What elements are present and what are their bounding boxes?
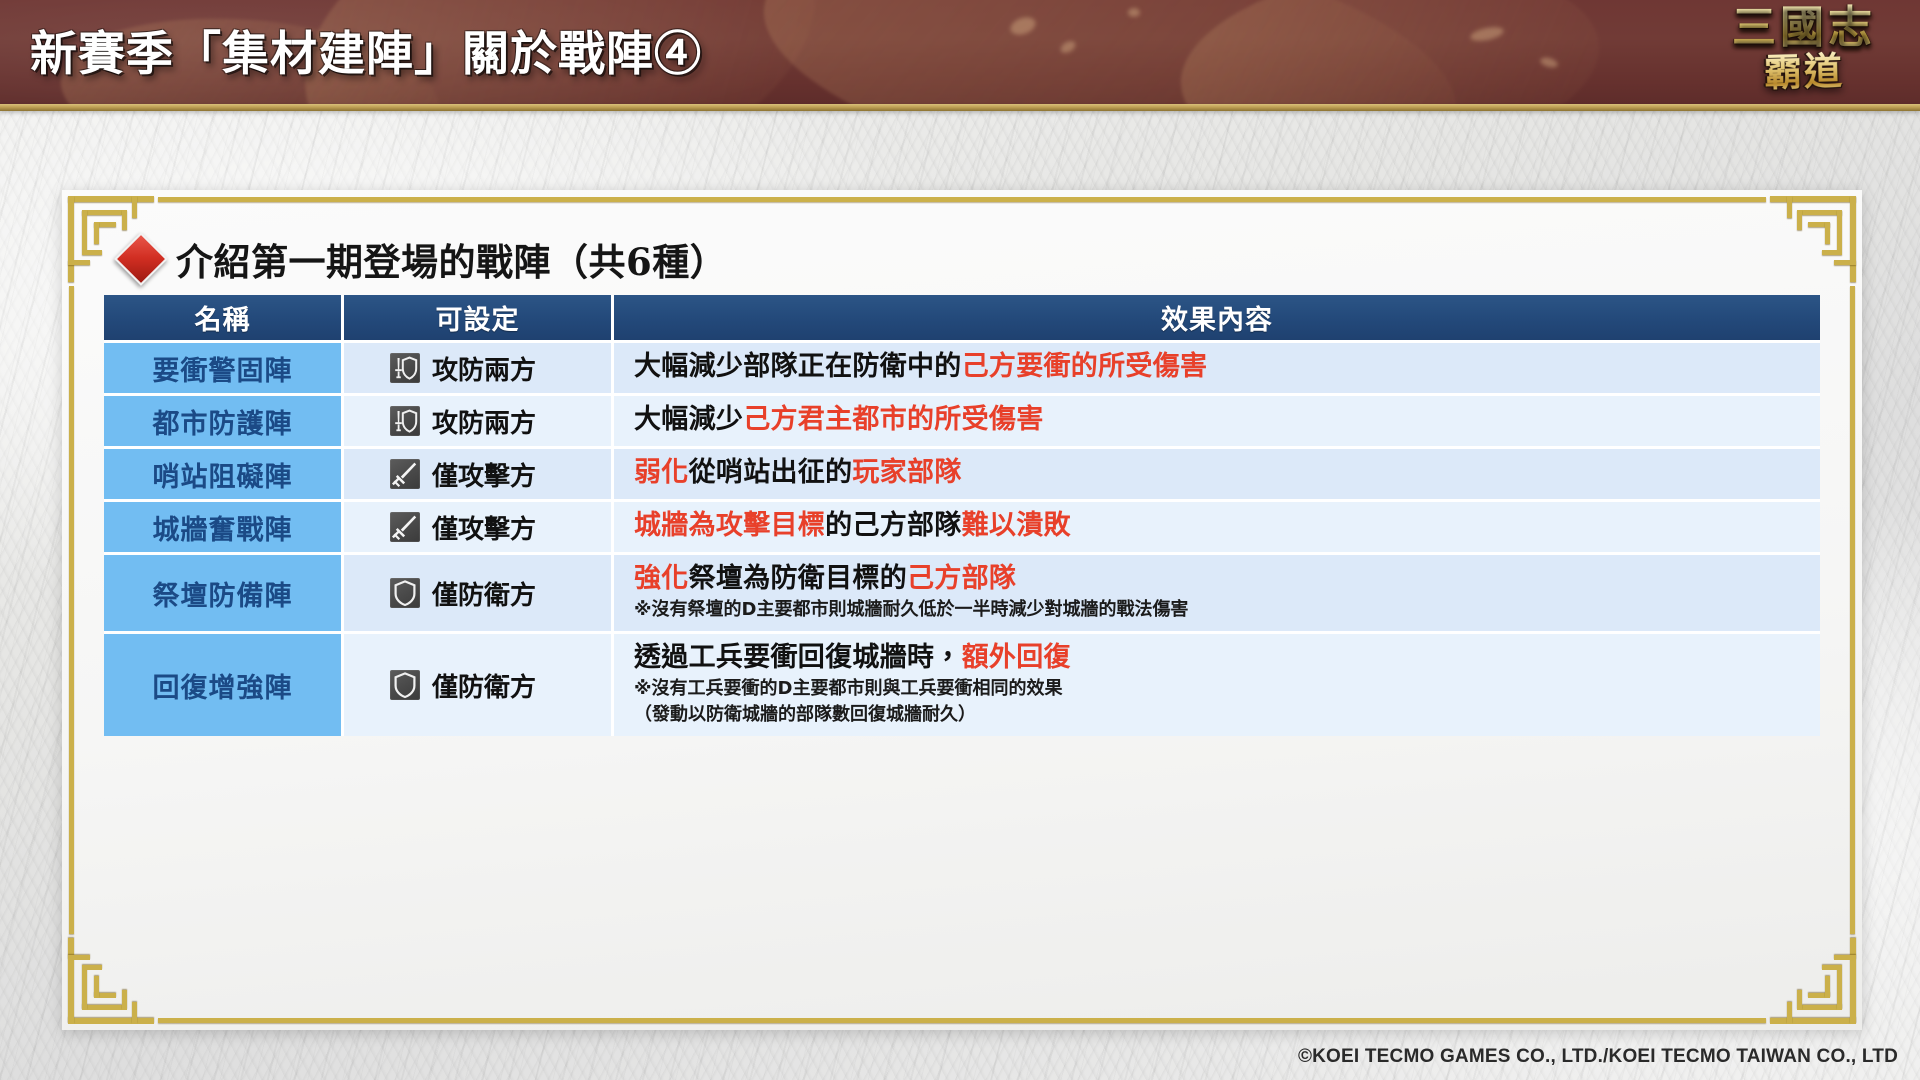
sword-and-shield-icon <box>390 353 420 383</box>
setting-label: 攻防兩方 <box>432 350 536 387</box>
panel-border-left <box>69 286 74 934</box>
content-panel: 介紹第一期登場的戰陣（共6種） 名稱 可設定 效果內容 要衝警固陣攻防兩方大幅減… <box>62 190 1862 1030</box>
table-header-row: 名稱 可設定 效果內容 <box>104 295 1820 340</box>
formation-name-cell: 哨站阻礙陣 <box>104 446 344 499</box>
effect-highlight-segment: 弱化 <box>634 457 689 488</box>
effect-highlight-segment: 己方要衝的所受傷害 <box>962 351 1208 382</box>
section-heading: 介紹第一期登場的戰陣（共6種） <box>122 232 727 286</box>
table-row: 要衝警固陣攻防兩方大幅減少部隊正在防衛中的己方要衝的所受傷害 <box>104 340 1820 393</box>
formation-name-cell: 都市防護陣 <box>104 393 344 446</box>
shield-icon <box>390 578 420 608</box>
effect-text: 大幅減少己方君主都市的所受傷害 <box>634 402 1820 438</box>
effect-highlight-segment: 額外回復 <box>962 642 1071 673</box>
copyright-notice: ©KOEI TECMO GAMES CO., LTD./KOEI TECMO T… <box>1298 1046 1898 1068</box>
game-logo: 三國志 霸道 <box>1704 2 1904 142</box>
effect-plain-segment: 透過工兵要衝回復城牆時， <box>634 642 962 673</box>
corner-ornament-bottom-right <box>1770 938 1856 1024</box>
column-header-name: 名稱 <box>104 295 344 340</box>
effect-text: 弱化從哨站出征的玩家部隊 <box>634 455 1820 491</box>
formation-name-cell: 要衝警固陣 <box>104 340 344 393</box>
effect-cell: 大幅減少己方君主都市的所受傷害 <box>614 393 1820 446</box>
setting-label: 僅攻擊方 <box>432 509 536 546</box>
effect-cell: 強化祭壇為防衛目標的己方部隊※沒有祭壇的D主要都市則城牆耐久低於一半時減少對城牆… <box>614 552 1820 631</box>
panel-border-top <box>158 197 1766 202</box>
effect-text: 強化祭壇為防衛目標的己方部隊 <box>634 561 1820 597</box>
setting-label: 僅防衛方 <box>432 575 536 612</box>
effect-cell: 大幅減少部隊正在防衛中的己方要衝的所受傷害 <box>614 340 1820 393</box>
page-header: 新賽季「集材建陣」關於戰陣④ <box>0 0 1920 110</box>
panel-border-bottom <box>158 1018 1766 1023</box>
effect-text: 城牆為攻擊目標的己方部隊難以潰敗 <box>634 508 1820 544</box>
effect-highlight-segment: 城牆為攻擊目標 <box>634 510 825 541</box>
setting-cell: 僅攻擊方 <box>344 499 614 552</box>
red-diamond-icon <box>114 232 168 286</box>
setting-cell: 僅防衛方 <box>344 552 614 631</box>
setting-label: 僅防衛方 <box>432 667 536 704</box>
effect-plain-segment: 的己方部隊 <box>825 510 962 541</box>
effect-cell: 弱化從哨站出征的玩家部隊 <box>614 446 1820 499</box>
effect-cell: 城牆為攻擊目標的己方部隊難以潰敗 <box>614 499 1820 552</box>
setting-label: 僅攻擊方 <box>432 456 536 493</box>
effect-highlight-segment: 難以潰敗 <box>962 510 1071 541</box>
page-title: 新賽季「集材建陣」關於戰陣④ <box>30 20 702 90</box>
sword-and-shield-icon <box>390 406 420 436</box>
logo-sub-text: 霸道 <box>1703 47 1904 96</box>
setting-cell: 僅攻擊方 <box>344 446 614 499</box>
effect-plain-segment: 從哨站出征的 <box>689 457 853 488</box>
panel-border-right <box>1850 286 1855 934</box>
setting-cell: 攻防兩方 <box>344 340 614 393</box>
shield-icon <box>390 670 420 700</box>
effect-plain-segment: 大幅減少部隊正在防衛中的 <box>634 351 962 382</box>
setting-cell: 僅防衛方 <box>344 631 614 736</box>
table-row: 祭壇防備陣僅防衛方強化祭壇為防衛目標的己方部隊※沒有祭壇的D主要都市則城牆耐久低… <box>104 552 1820 631</box>
header-speck <box>1128 8 1140 17</box>
corner-ornament-bottom-left <box>68 938 154 1024</box>
formation-name-cell: 城牆奮戰陣 <box>104 499 344 552</box>
effect-cell: 透過工兵要衝回復城牆時，額外回復※沒有工兵要衝的D主要都市則與工兵要衝相同的效果… <box>614 631 1820 736</box>
logo-main-text: 三國志 <box>1704 2 1904 54</box>
table-row: 哨站阻礙陣僅攻擊方弱化從哨站出征的玩家部隊 <box>104 446 1820 499</box>
formation-name-cell: 回復增強陣 <box>104 631 344 736</box>
table-row: 都市防護陣攻防兩方大幅減少己方君主都市的所受傷害 <box>104 393 1820 446</box>
effect-plain-segment: 大幅減少 <box>634 404 743 435</box>
sword-icon <box>390 459 420 489</box>
effect-highlight-segment: 玩家部隊 <box>852 457 961 488</box>
effect-highlight-segment: 己方部隊 <box>907 563 1016 594</box>
effect-text: 透過工兵要衝回復城牆時，額外回復 <box>634 640 1820 676</box>
sword-icon <box>390 512 420 542</box>
section-title: 介紹第一期登場的戰陣（共6種） <box>176 232 727 286</box>
column-header-effect: 效果內容 <box>614 295 1820 340</box>
effect-highlight-segment: 強化 <box>634 563 689 594</box>
formation-table: 名稱 可設定 效果內容 要衝警固陣攻防兩方大幅減少部隊正在防衛中的己方要衝的所受… <box>104 295 1820 736</box>
effect-text: 大幅減少部隊正在防衛中的己方要衝的所受傷害 <box>634 349 1820 385</box>
setting-label: 攻防兩方 <box>432 403 536 440</box>
setting-cell: 攻防兩方 <box>344 393 614 446</box>
table-row: 城牆奮戰陣僅攻擊方城牆為攻擊目標的己方部隊難以潰敗 <box>104 499 1820 552</box>
effect-note: （發動以防衛城牆的部隊數回復城牆耐久） <box>634 702 1820 728</box>
effect-note: ※沒有祭壇的D主要都市則城牆耐久低於一半時減少對城牆的戰法傷害 <box>634 597 1820 623</box>
effect-plain-segment: 祭壇為防衛目標的 <box>689 563 907 594</box>
effect-highlight-segment: 己方君主都市的所受傷害 <box>743 404 1043 435</box>
effect-note: ※沒有工兵要衝的D主要都市則與工兵要衝相同的效果 <box>634 676 1820 702</box>
column-header-setting: 可設定 <box>344 295 614 340</box>
table-row: 回復增強陣僅防衛方透過工兵要衝回復城牆時，額外回復※沒有工兵要衝的D主要都市則與… <box>104 631 1820 736</box>
table-body: 要衝警固陣攻防兩方大幅減少部隊正在防衛中的己方要衝的所受傷害都市防護陣攻防兩方大… <box>104 340 1820 736</box>
header-gold-rule <box>0 104 1920 111</box>
header-brush-stroke <box>1171 0 1609 110</box>
corner-ornament-top-right <box>1770 196 1856 282</box>
formation-name-cell: 祭壇防備陣 <box>104 552 344 631</box>
